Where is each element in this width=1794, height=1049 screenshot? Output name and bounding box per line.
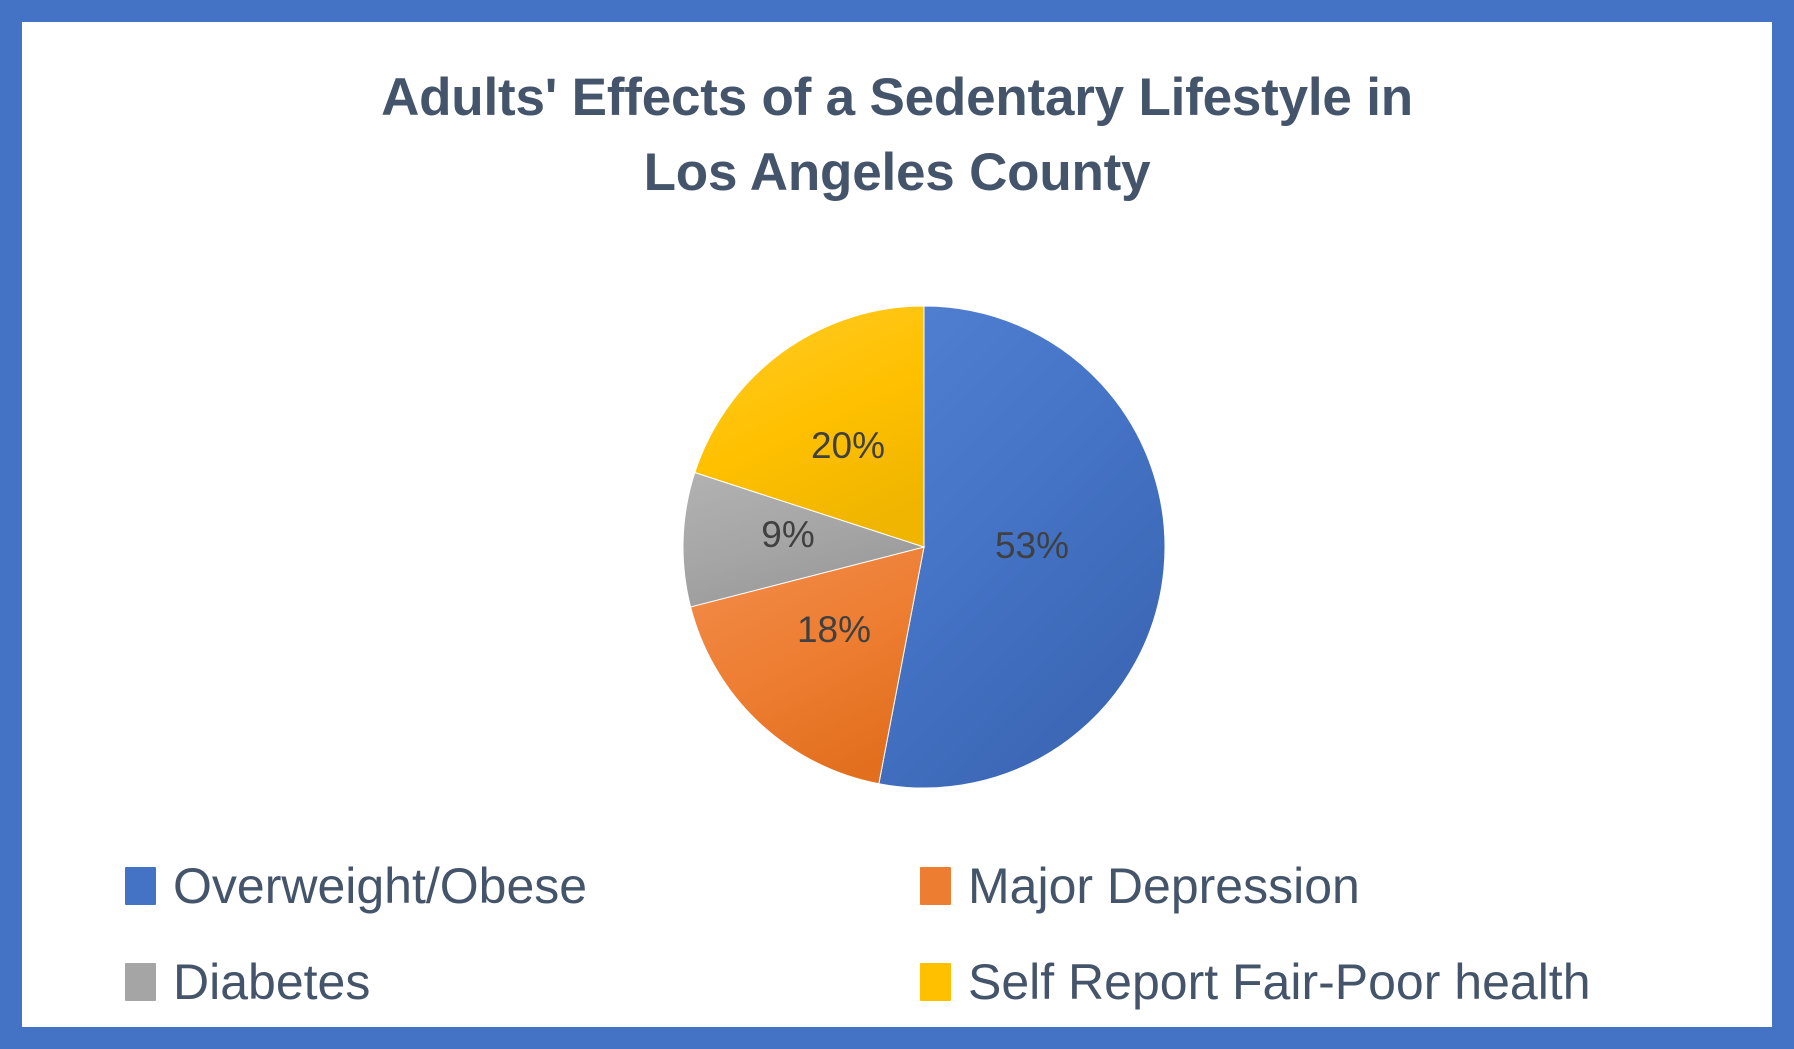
pie-slice-label-self-report-fair-poor-health: 20%	[811, 425, 885, 467]
legend-row: Diabetes Self Report Fair-Poor health	[125, 934, 1725, 1030]
legend-swatch-diabetes-icon	[125, 963, 156, 1001]
pie-slice-label-diabetes: 9%	[761, 514, 814, 556]
legend-swatch-major-depression-icon	[920, 867, 951, 905]
legend-item-major-depression[interactable]: Major Depression	[920, 838, 1715, 934]
slide-canvas: Adults' Effects of a Sedentary Lifestyle…	[22, 22, 1772, 1027]
legend-item-diabetes[interactable]: Diabetes	[125, 934, 920, 1030]
legend-swatch-overweight-obese-icon	[125, 867, 156, 905]
pie-slice-label-overweight-obese: 53%	[995, 525, 1069, 567]
legend-item-self-report-fair-poor-health[interactable]: Self Report Fair-Poor health	[920, 934, 1715, 1030]
legend-swatch-self-report-fair-poor-health-icon	[920, 963, 951, 1001]
chart-legend: Overweight/Obese Major Depression Diabet…	[125, 838, 1725, 1030]
legend-label-self-report-fair-poor-health: Self Report Fair-Poor health	[968, 957, 1591, 1007]
slide-frame: Adults' Effects of a Sedentary Lifestyle…	[0, 0, 1794, 1049]
pie-chart-svg	[682, 305, 1166, 789]
legend-item-overweight-obese[interactable]: Overweight/Obese	[125, 838, 920, 934]
legend-label-overweight-obese: Overweight/Obese	[173, 861, 587, 911]
legend-label-diabetes: Diabetes	[173, 957, 370, 1007]
pie-slice-label-major-depression: 18%	[797, 609, 871, 651]
legend-label-major-depression: Major Depression	[968, 861, 1360, 911]
legend-row: Overweight/Obese Major Depression	[125, 838, 1725, 934]
pie-slice-group	[683, 306, 1165, 788]
